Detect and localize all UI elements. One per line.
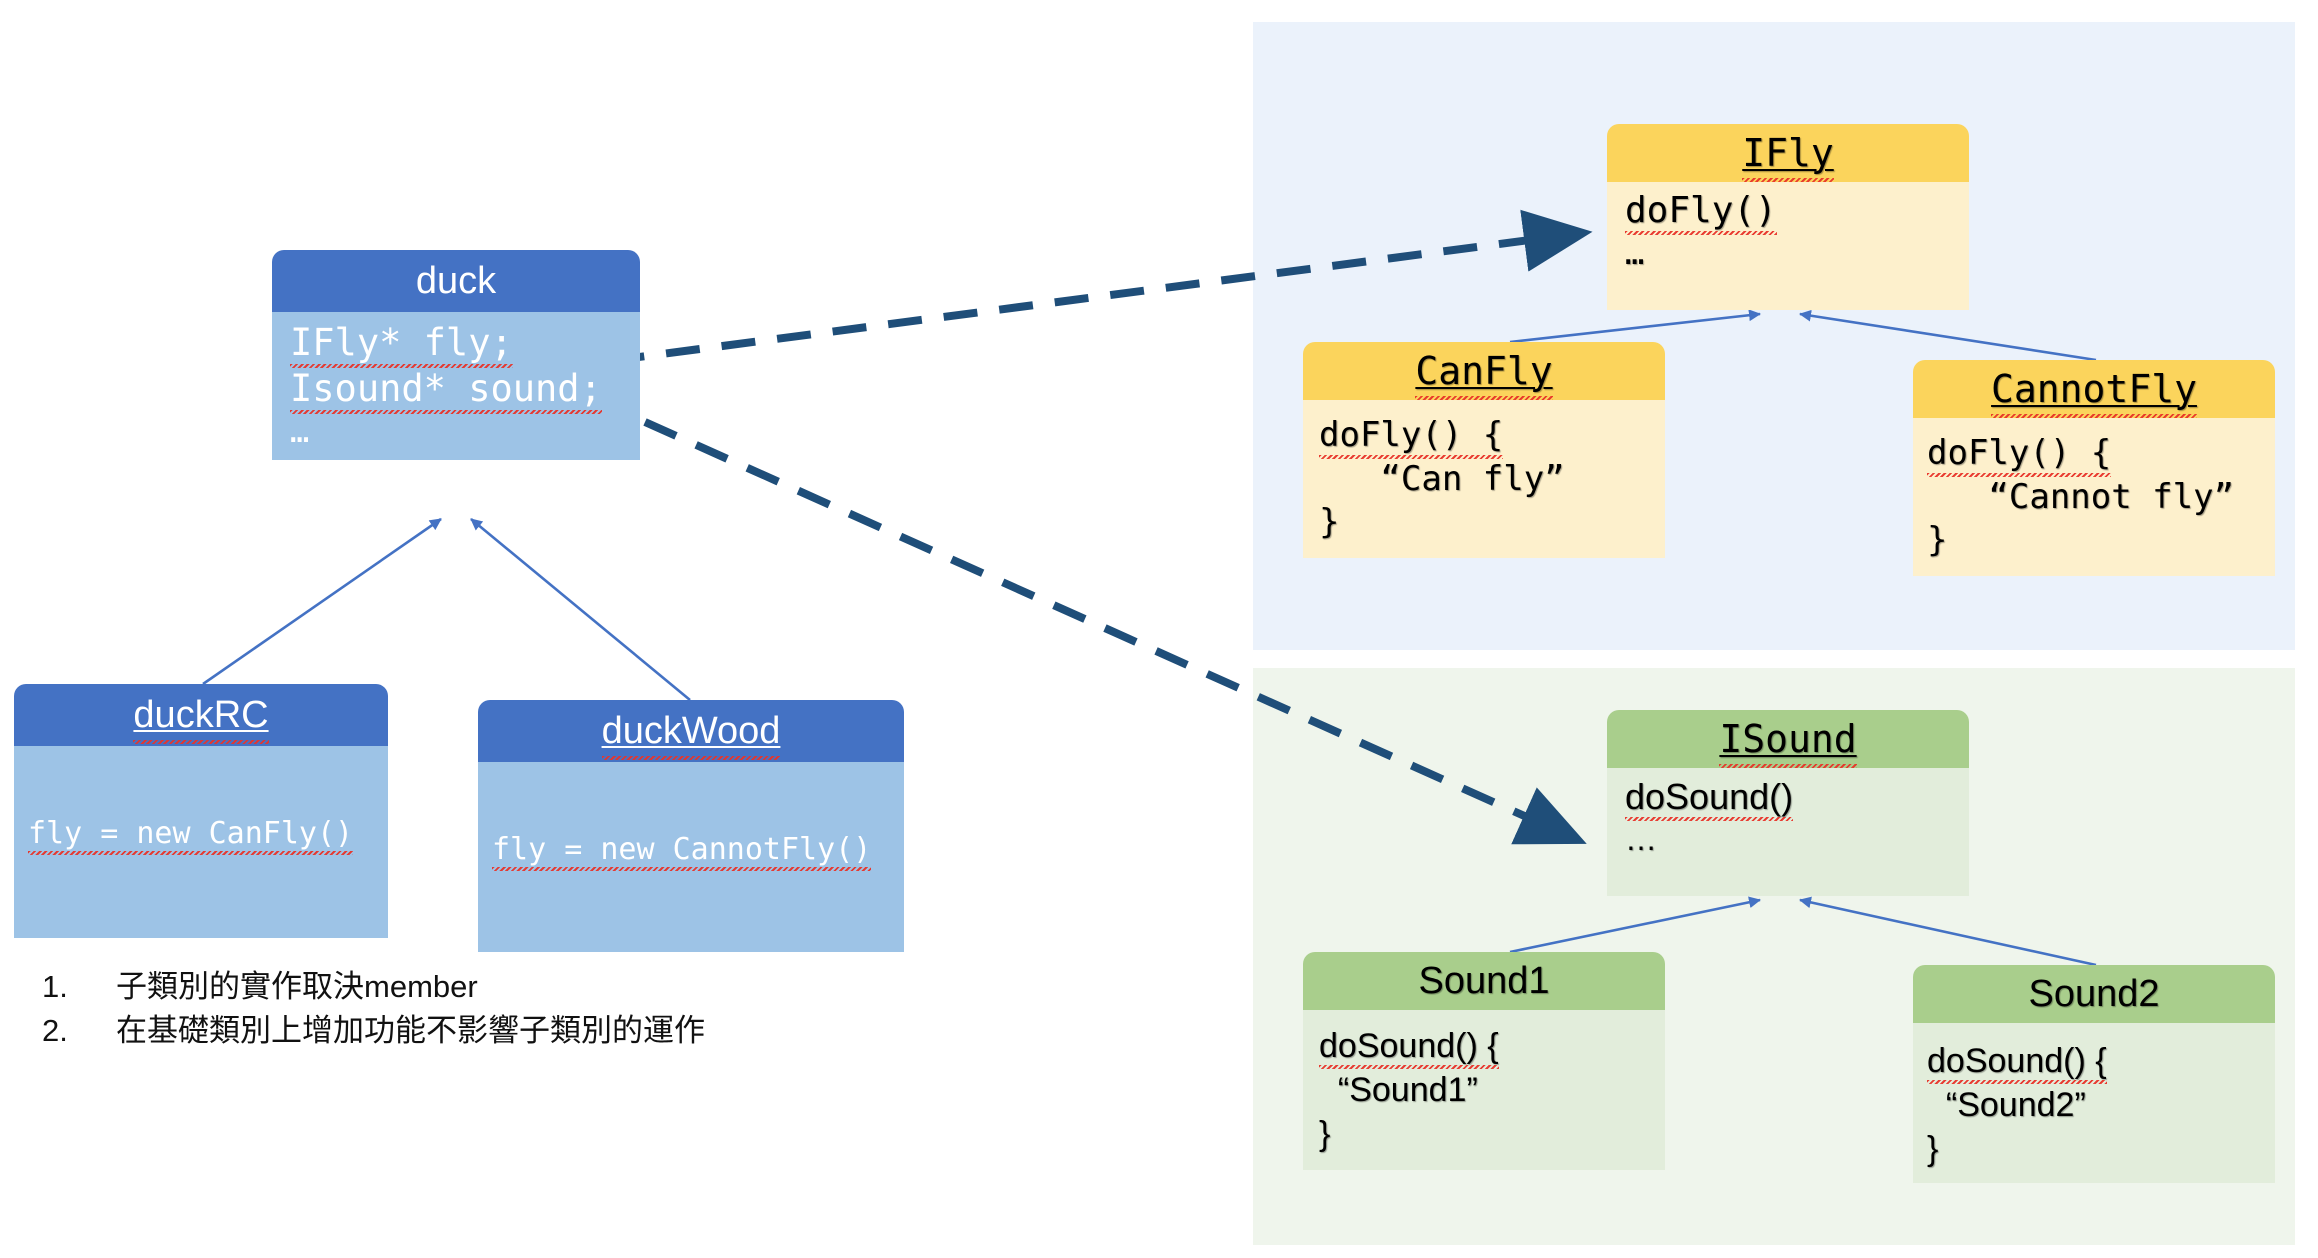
- class-body-ifly: doFly() …: [1607, 182, 1969, 310]
- class-title-canfly: CanFly: [1303, 342, 1665, 400]
- class-box-isound[interactable]: ISound doSound() …: [1607, 710, 1969, 896]
- method-dofly-close: }: [1319, 501, 1651, 545]
- class-body-duckwood: fly = new CannotFly(): [478, 762, 904, 952]
- field-sound: Isound* sound;: [290, 367, 602, 410]
- class-title-cannotfly: CannotFly: [1913, 360, 2275, 418]
- class-title-ifly: IFly: [1607, 124, 1969, 182]
- class-title-duck: duck: [272, 250, 640, 312]
- class-body-duckrc: fly = new CanFly(): [14, 746, 388, 938]
- class-body-sound1: doSound() { “Sound1” }: [1303, 1010, 1665, 1170]
- class-box-sound1[interactable]: Sound1 doSound() { “Sound1” }: [1303, 952, 1665, 1170]
- method-dofly: doFly(): [1625, 190, 1777, 231]
- notes-list: 1. 子類別的實作取決member 2. 在基礎類別上增加功能不影響子類別的運作: [42, 966, 942, 1053]
- method-dofly-string: “Can fly”: [1319, 458, 1651, 502]
- class-box-duckwood[interactable]: duckWood fly = new CannotFly(): [478, 700, 904, 952]
- note-text: 子類別的實作取決member: [116, 966, 478, 1008]
- class-box-duckrc[interactable]: duckRC fly = new CanFly(): [14, 684, 388, 938]
- method-dosound-string: “Sound1”: [1319, 1068, 1651, 1112]
- relation-duckwood-inherits-duck: [471, 519, 690, 700]
- diagram-canvas: duck IFly* fly; Isound* sound; … duckRC …: [0, 0, 2318, 1258]
- class-title-sound1: Sound1: [1303, 952, 1665, 1010]
- field-ellipsis: …: [290, 412, 622, 452]
- class-body-sound2: doSound() { “Sound2” }: [1913, 1023, 2275, 1183]
- method-dosound-close: }: [1927, 1127, 2265, 1171]
- method-ellipsis: …: [1625, 819, 1951, 859]
- note-number: 1.: [42, 966, 116, 1008]
- method-dosound-close: }: [1319, 1112, 1651, 1156]
- method-dosound-open: doSound() {: [1927, 1042, 2107, 1080]
- field-fly: IFly* fly;: [290, 321, 513, 364]
- class-body-duck: IFly* fly; Isound* sound; …: [272, 312, 640, 460]
- method-dosound-string: “Sound2”: [1927, 1083, 2265, 1127]
- class-title-duckwood: duckWood: [478, 700, 904, 762]
- class-body-canfly: doFly() { “Can fly” }: [1303, 400, 1665, 558]
- stmt-fly-assign-cannotfly: fly = new CannotFly(): [492, 832, 871, 867]
- method-dofly-open: doFly() {: [1319, 415, 1503, 455]
- stmt-fly-assign-canfly: fly = new CanFly(): [28, 816, 353, 851]
- class-title-duckrc: duckRC: [14, 684, 388, 746]
- note-item: 1. 子類別的實作取決member: [42, 966, 942, 1008]
- class-box-cannotfly[interactable]: CannotFly doFly() { “Cannot fly” }: [1913, 360, 2275, 576]
- class-box-sound2[interactable]: Sound2 doSound() { “Sound2” }: [1913, 965, 2275, 1183]
- note-number: 2.: [42, 1010, 116, 1052]
- relation-duckrc-inherits-duck: [203, 519, 441, 684]
- method-dofly-string: “Cannot fly”: [1927, 476, 2265, 520]
- class-title-isound: ISound: [1607, 710, 1969, 768]
- method-ellipsis: …: [1625, 233, 1951, 273]
- note-text: 在基礎類別上增加功能不影響子類別的運作: [116, 1010, 705, 1052]
- class-body-isound: doSound() …: [1607, 768, 1969, 896]
- method-dosound: doSound(): [1625, 776, 1793, 817]
- method-dofly-close: }: [1927, 519, 2265, 563]
- class-title-sound2: Sound2: [1913, 965, 2275, 1023]
- method-dofly-open: doFly() {: [1927, 433, 2111, 473]
- method-dosound-open: doSound() {: [1319, 1027, 1499, 1065]
- class-body-cannotfly: doFly() { “Cannot fly” }: [1913, 418, 2275, 576]
- class-box-canfly[interactable]: CanFly doFly() { “Can fly” }: [1303, 342, 1665, 558]
- class-box-ifly[interactable]: IFly doFly() …: [1607, 124, 1969, 310]
- class-box-duck[interactable]: duck IFly* fly; Isound* sound; …: [272, 250, 640, 460]
- note-item: 2. 在基礎類別上增加功能不影響子類別的運作: [42, 1010, 942, 1052]
